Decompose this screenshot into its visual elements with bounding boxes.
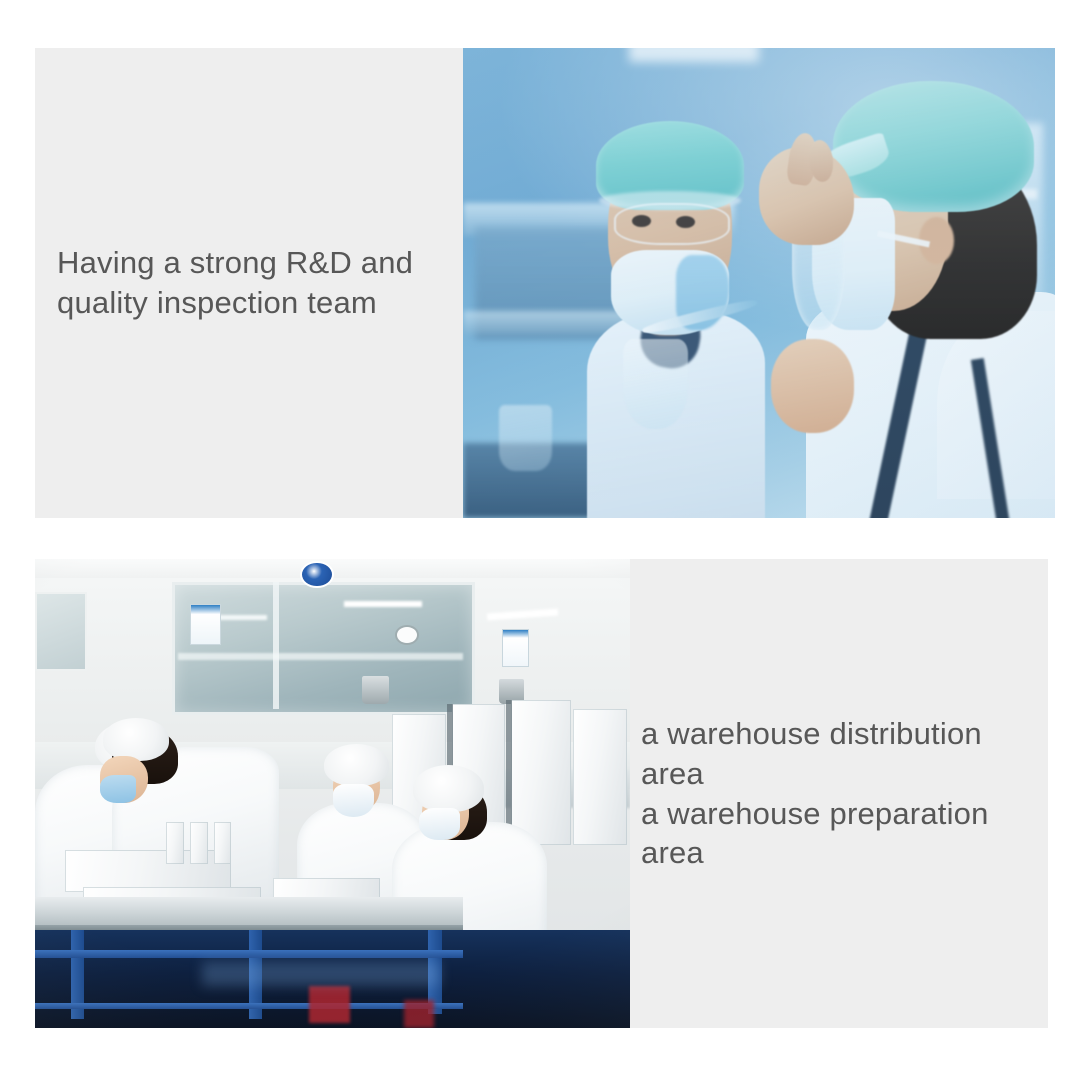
bottom-caption-panel: a warehouse distribution area a warehous… (630, 559, 1048, 1028)
page-root: Having a strong R&D and quality inspecti… (0, 0, 1080, 1080)
lab-ceiling-light (629, 48, 759, 62)
warehouse-packaging-line-photo (35, 559, 630, 1028)
bottom-caption-text: a warehouse distribution area a warehous… (630, 714, 1048, 873)
lab-flask-left (623, 339, 688, 428)
top-caption-text: Having a strong R&D and quality inspecti… (35, 243, 423, 322)
technician-left-glasses (614, 203, 730, 245)
quality-inspection-lab-photo (463, 48, 1055, 518)
lab-beaker (499, 405, 552, 471)
technician-left-eye-left (632, 215, 651, 227)
top-caption-panel: Having a strong R&D and quality inspecti… (35, 48, 463, 518)
technician-lower-hand (771, 339, 854, 433)
warehouse-vignette (35, 559, 630, 1028)
